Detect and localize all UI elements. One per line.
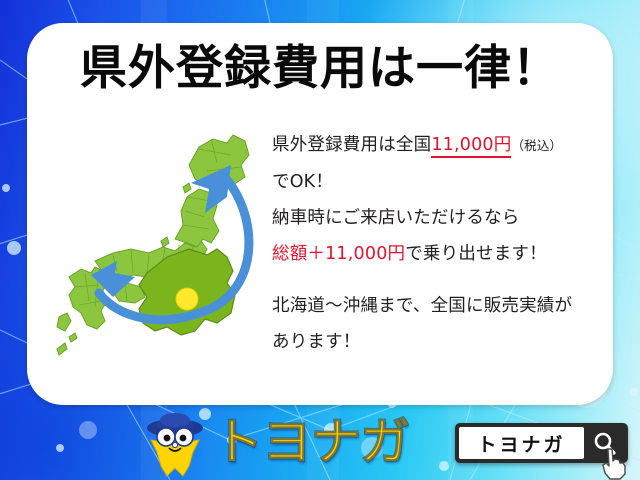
toyonaga-mascot — [143, 406, 207, 478]
paragraph-spacer — [272, 272, 602, 288]
location-marker — [176, 288, 198, 310]
body-line1-prefix: 県外登録費用は全国 — [272, 135, 431, 155]
body-line-5: 北海道〜沖縄まで、全国に販売実績が — [272, 288, 602, 324]
tax-note: （税込） — [511, 138, 562, 153]
search-input[interactable]: トヨナガ — [459, 427, 584, 459]
body-line-3: 納車時にご来店いただけるなら — [272, 200, 602, 236]
hand-pointer-cursor — [600, 447, 630, 480]
body-line-6: あります！ — [272, 324, 602, 360]
body-line-4: 総額＋11,000円で乗り出せます！ — [272, 236, 602, 272]
body-line4-suffix: で乗り出せます！ — [405, 244, 547, 264]
screenshot-root: 県外登録費用は一律！ — [0, 0, 640, 480]
body-text-block: 県外登録費用は全国11,000円（税込） でOK！ 納車時にご来店いただけるなら… — [272, 127, 602, 360]
japan-map-illustration — [55, 121, 271, 391]
price-highlight: 11,000円 — [431, 135, 511, 158]
body-line-1: 県外登録費用は全国11,000円（税込） — [272, 127, 602, 164]
toyonaga-logo-text: トヨナガ — [213, 414, 409, 470]
total-price-highlight: 総額＋11,000円 — [272, 244, 405, 264]
body-line-2: でOK！ — [272, 164, 602, 200]
content-card: 県外登録費用は一律！ — [27, 23, 613, 405]
page-title: 県外登録費用は一律！ — [27, 45, 613, 92]
